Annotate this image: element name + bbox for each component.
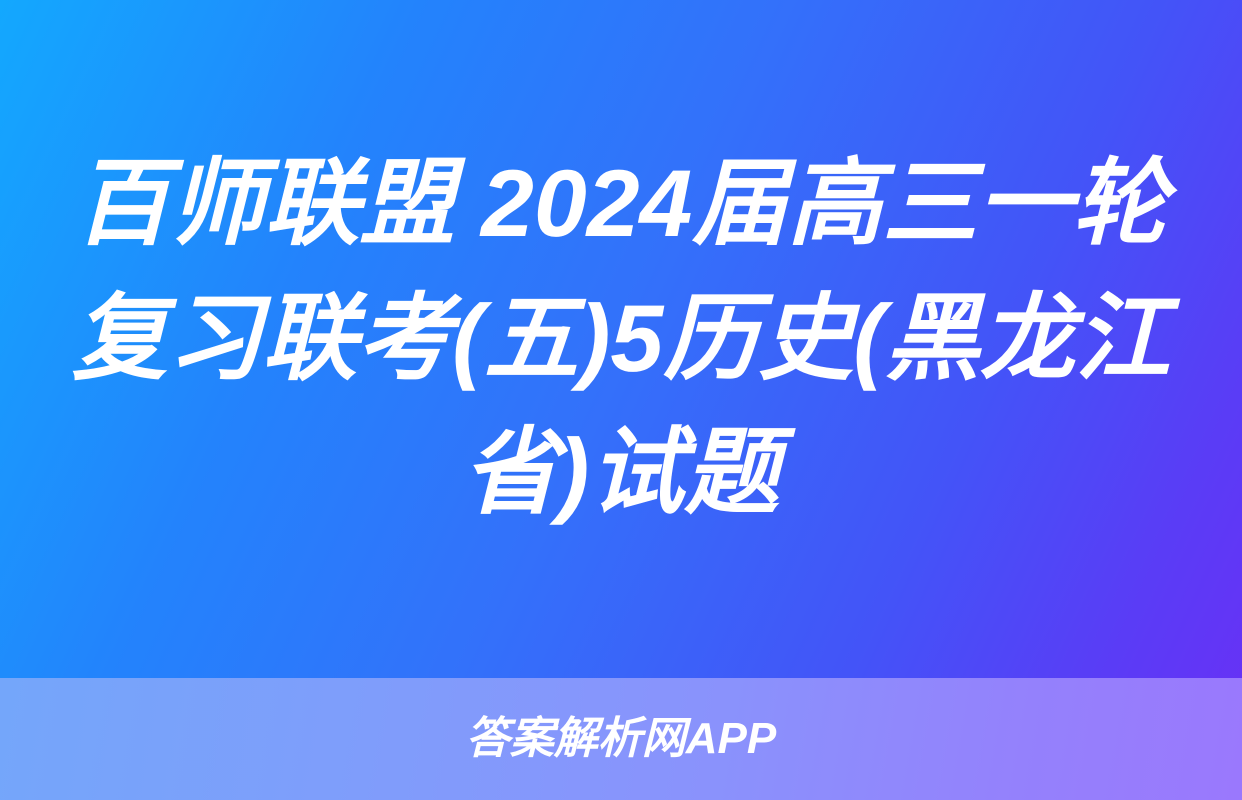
title-card: 百师联盟 2024届高三一轮复习联考(五)5历史(黑龙江省)试题 答案解析网AP… bbox=[0, 0, 1242, 800]
watermark-text: 答案解析网APP bbox=[466, 717, 776, 761]
hero-section: 百师联盟 2024届高三一轮复习联考(五)5历史(黑龙江省)试题 bbox=[0, 0, 1242, 678]
footer-watermark-band: 答案解析网APP bbox=[0, 678, 1242, 800]
page-title: 百师联盟 2024届高三一轮复习联考(五)5历史(黑龙江省)试题 bbox=[62, 137, 1180, 542]
